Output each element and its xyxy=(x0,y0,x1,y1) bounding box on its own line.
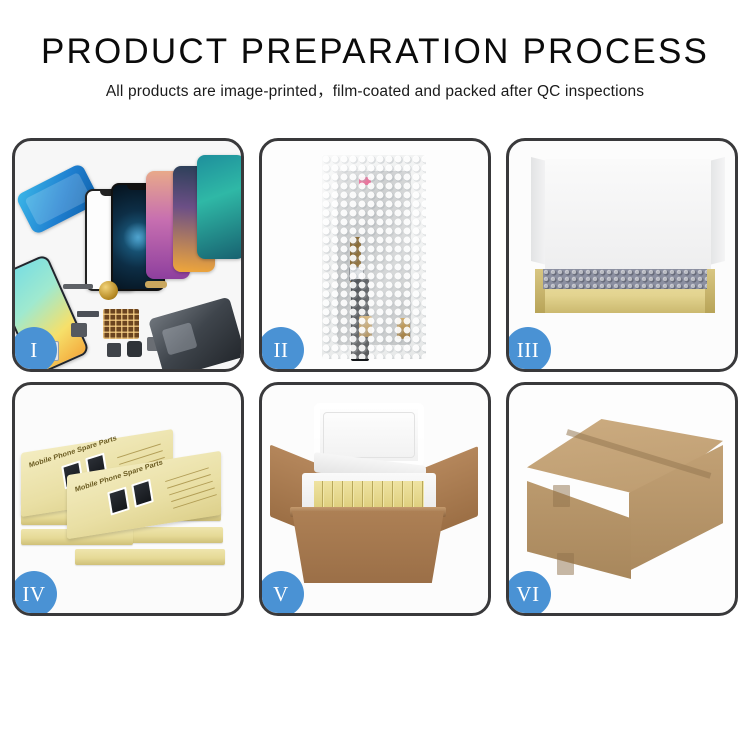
step-badge-3: III xyxy=(506,327,551,372)
carton-tape-upper xyxy=(553,485,570,507)
step-badge-6: VI xyxy=(506,571,551,616)
step-badge-1: I xyxy=(12,327,57,372)
box-spec-line xyxy=(117,443,161,458)
camera-lens-part-icon xyxy=(99,281,118,300)
step-badge-2: II xyxy=(259,327,304,372)
page-title: PRODUCT PREPARATION PROCESS xyxy=(0,30,750,74)
page-header: PRODUCT PREPARATION PROCESS All products… xyxy=(0,0,750,104)
box-screen-graphic xyxy=(131,479,154,508)
circuit-board-part-icon xyxy=(103,309,139,339)
vibrator-part-icon xyxy=(71,323,87,337)
box-lid-right-flap xyxy=(709,157,725,265)
step-badge-4: IV xyxy=(12,571,57,616)
taptic-part-icon xyxy=(127,341,142,357)
process-step-panel-4[interactable]: Mobile Phone Spare Parts Mobile Phone Sp… xyxy=(12,382,244,616)
stacked-box-edge xyxy=(75,549,225,565)
flex-cable-part-icon xyxy=(145,281,167,288)
box-screen-graphic xyxy=(107,487,130,516)
process-step-panel-6[interactable]: VI xyxy=(506,382,738,616)
box-stack: Mobile Phone Spare Parts Mobile Phone Sp… xyxy=(19,417,241,599)
box-spec-line xyxy=(165,467,209,482)
speaker-part-icon xyxy=(63,284,93,289)
button-flex-part-icon xyxy=(77,311,99,317)
box-spec-line xyxy=(171,487,215,502)
kraft-box-tray xyxy=(535,269,715,313)
box-spec-line xyxy=(173,494,217,509)
sim-tray-part-icon xyxy=(107,343,121,357)
process-step-panel-3[interactable]: III xyxy=(506,138,738,372)
step-badge-5: V xyxy=(259,571,304,616)
box-inner-lid xyxy=(545,159,711,281)
process-step-panel-2[interactable]: II xyxy=(259,138,491,372)
process-step-panel-1[interactable]: I xyxy=(12,138,244,372)
process-step-panel-5[interactable]: V xyxy=(259,382,491,616)
box-spec-line xyxy=(167,474,211,489)
bubble-bag-icon xyxy=(322,155,426,359)
phone-screen-green-icon xyxy=(197,155,241,259)
box-spec-line xyxy=(169,481,213,496)
carton-front-face xyxy=(527,481,631,579)
bubble-wrapped-contents xyxy=(543,269,707,289)
carton-tape-lower xyxy=(557,553,574,575)
page-subtitle: All products are image-printed，film-coat… xyxy=(0,80,750,104)
process-step-grid: I II xyxy=(12,138,738,616)
phone-back-housing-icon xyxy=(148,297,241,369)
carton-body xyxy=(292,511,444,583)
plastic-sheen xyxy=(322,155,426,359)
